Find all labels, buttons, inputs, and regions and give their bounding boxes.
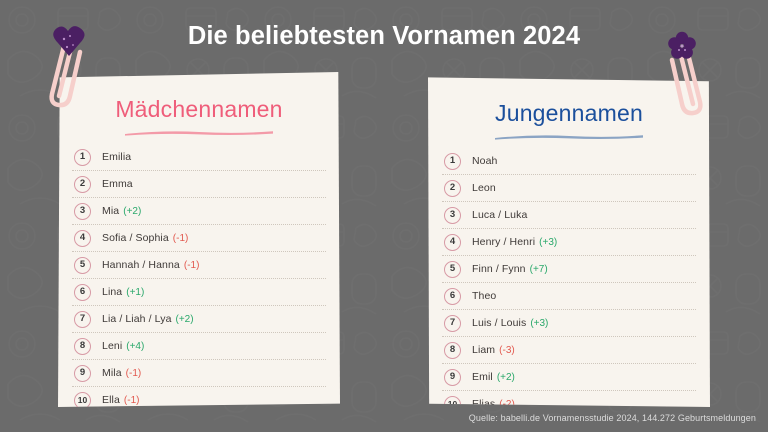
name-label: Sofia / Sophia (102, 232, 169, 244)
name-label: Hannah / Hanna (102, 259, 180, 271)
name-label: Liam (472, 344, 495, 356)
list-item[interactable]: 6 Lina (+1) (72, 279, 326, 306)
list-item[interactable]: 7 Lia / Liah / Lya (+2) (72, 306, 326, 333)
rank-change-badge: (+2) (497, 372, 515, 383)
rank-badge: 4 (74, 230, 91, 247)
list-item[interactable]: 6 Theo (442, 283, 696, 310)
rank-change-badge: (+3) (530, 318, 548, 329)
rank-badge: 10 (74, 392, 91, 409)
rank-badge: 5 (74, 257, 91, 274)
rank-badge: 3 (444, 207, 461, 224)
name-label: Leon (472, 182, 496, 194)
list-item[interactable]: 8 Leni (+4) (72, 333, 326, 360)
list-item[interactable]: 5 Hannah / Hanna (-1) (72, 252, 326, 279)
name-label: Luca / Luka (472, 209, 527, 221)
list-item[interactable]: 4 Henry / Henri (+3) (442, 229, 696, 256)
list-item[interactable]: 3 Mia (+2) (72, 198, 326, 225)
rank-change-badge: (+7) (530, 264, 548, 275)
rank-badge: 8 (74, 338, 91, 355)
list-item[interactable]: 4 Sofia / Sophia (-1) (72, 225, 326, 252)
name-list-boys: 1 Noah 2 Leon 3 Luca / Luka 4 Henry / He… (442, 148, 696, 417)
rank-badge: 2 (444, 180, 461, 197)
rank-change-badge: (+3) (539, 237, 557, 248)
list-item[interactable]: 5 Finn / Fynn (+7) (442, 256, 696, 283)
list-item[interactable]: 8 Liam (-3) (442, 337, 696, 364)
name-label: Theo (472, 290, 496, 302)
rank-badge: 9 (444, 369, 461, 386)
title-underline-girls (123, 129, 275, 136)
rank-badge: 2 (74, 176, 91, 193)
rank-badge: 3 (74, 203, 91, 220)
list-item[interactable]: 9 Emil (+2) (442, 364, 696, 391)
rank-badge: 4 (444, 234, 461, 251)
card-title-girls: Mädchennamen (58, 96, 340, 123)
name-label: Henry / Henri (472, 236, 535, 248)
rank-change-badge: (+2) (176, 314, 194, 325)
rank-change-badge: (+2) (123, 206, 141, 217)
rank-change-badge: (-1) (124, 395, 140, 406)
rank-badge: 6 (444, 288, 461, 305)
list-item[interactable]: 1 Noah (442, 148, 696, 175)
name-label: Mila (102, 367, 122, 379)
title-underline-boys (493, 133, 645, 140)
name-label: Luis / Louis (472, 317, 526, 329)
name-label: Noah (472, 155, 498, 167)
name-label: Mia (102, 205, 119, 217)
rank-change-badge: (-1) (126, 368, 142, 379)
source-note: Quelle: babelli.de Vornamensstudie 2024,… (469, 413, 756, 423)
rank-badge: 1 (74, 149, 91, 166)
rank-badge: 1 (444, 153, 461, 170)
list-item[interactable]: 7 Luis / Louis (+3) (442, 310, 696, 337)
rank-change-badge: (-1) (173, 233, 189, 244)
rank-badge: 7 (74, 311, 91, 328)
infographic-canvas: Die beliebtesten Vornamen 2024 Mädchenna… (0, 0, 768, 432)
rank-badge: 9 (74, 365, 91, 382)
rank-badge: 6 (74, 284, 91, 301)
rank-badge: 7 (444, 315, 461, 332)
rank-badge: 5 (444, 261, 461, 278)
list-item[interactable]: 1 Emilia (72, 144, 326, 171)
name-label: Emilia (102, 151, 131, 163)
name-label: Emil (472, 371, 493, 383)
list-item[interactable]: 9 Mila (-1) (72, 360, 326, 387)
page-title: Die beliebtesten Vornamen 2024 (0, 22, 768, 51)
card-girls: Mädchennamen 1 Emilia 2 Emma 3 Mia (+2) (58, 72, 340, 407)
list-item[interactable]: 3 Luca / Luka (442, 202, 696, 229)
card-title-boys: Jungennamen (428, 100, 710, 127)
name-label: Lia / Liah / Lya (102, 313, 172, 325)
rank-change-badge: (+1) (126, 287, 144, 298)
rank-change-badge: (-3) (499, 345, 515, 356)
list-item[interactable]: 2 Leon (442, 175, 696, 202)
rank-change-badge: (-1) (184, 260, 200, 271)
name-label: Lina (102, 286, 122, 298)
name-list-girls: 1 Emilia 2 Emma 3 Mia (+2) 4 Sofia / Sop… (72, 144, 326, 413)
name-label: Finn / Fynn (472, 263, 526, 275)
rank-badge: 8 (444, 342, 461, 359)
name-label: Ella (102, 394, 120, 406)
name-label: Emma (102, 178, 133, 190)
name-label: Leni (102, 340, 122, 352)
rank-change-badge: (+4) (126, 341, 144, 352)
card-boys: Jungennamen 1 Noah 2 Leon 3 Luca / Luka (428, 76, 710, 407)
list-item[interactable]: 2 Emma (72, 171, 326, 198)
